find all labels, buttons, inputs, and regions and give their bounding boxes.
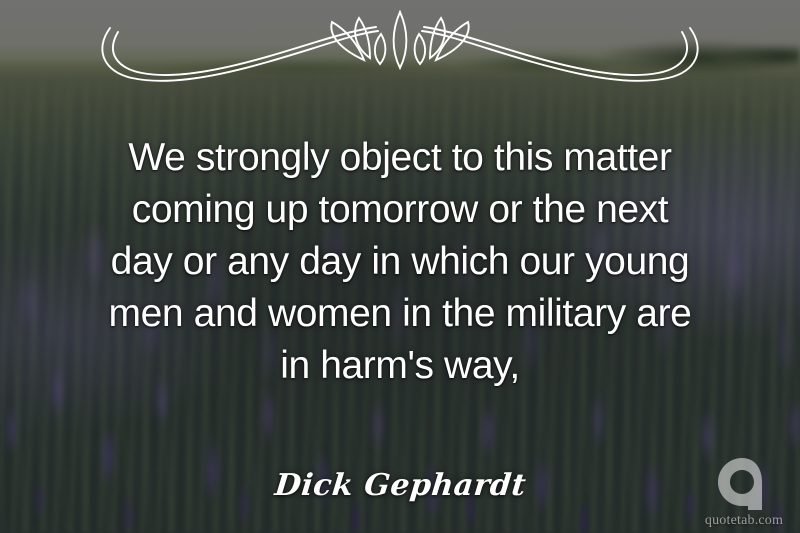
quote-line: We strongly object to this matter — [50, 132, 750, 184]
quote-line: day or any day in which our young — [50, 236, 750, 288]
quote-line: in harm's way, — [50, 340, 750, 392]
author-attribution[interactable]: Dick Gephardt — [0, 468, 800, 503]
quotetab-logo-icon — [716, 456, 772, 512]
quote-line: coming up tomorrow or the next — [50, 184, 750, 236]
watermark[interactable]: quotetab.com — [698, 456, 790, 529]
watermark-site-label[interactable]: quotetab.com — [698, 513, 790, 529]
author-name[interactable]: Dick Gephardt — [273, 468, 528, 503]
flourish-ornament-icon — [70, 6, 730, 88]
quote-line: men and women in the military are — [50, 288, 750, 340]
quote-card: We strongly object to this matter coming… — [0, 0, 800, 533]
quote-text: We strongly object to this matter coming… — [50, 132, 750, 392]
